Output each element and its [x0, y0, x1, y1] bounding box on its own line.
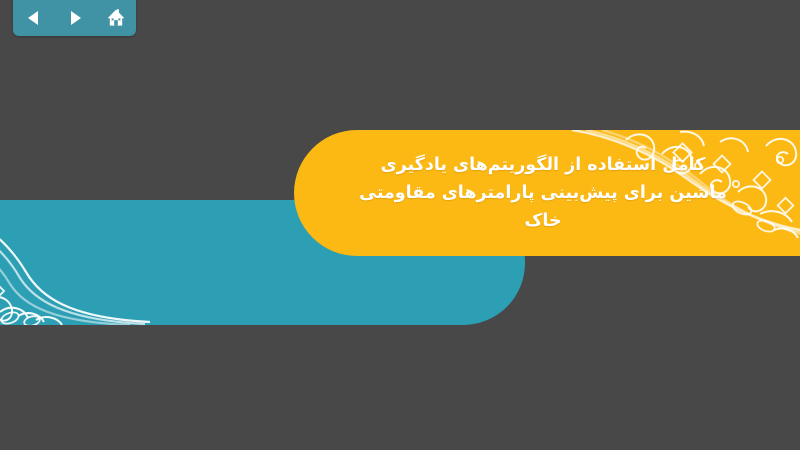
home-icon: [106, 8, 126, 28]
slide-title-line-2: ماشین برای پیش‌بینی پارامترهای مقاومتی: [359, 179, 727, 207]
floral-arabesque-ornament: [0, 200, 150, 325]
next-slide-button[interactable]: [62, 5, 88, 31]
slide-navigation-bar: [13, 0, 136, 36]
slide-title: کامل استفاده از الگوریتم‌های یادگیری ماش…: [294, 130, 800, 256]
presentation-slide: کامل استفاده از الگوریتم‌های یادگیری ماش…: [0, 0, 800, 450]
triangle-left-icon: [25, 9, 43, 27]
title-banner: کامل استفاده از الگوریتم‌های یادگیری ماش…: [294, 130, 800, 256]
home-button[interactable]: [103, 5, 129, 31]
slide-title-line-1: کامل استفاده از الگوریتم‌های یادگیری: [381, 151, 706, 179]
slide-title-line-3: خاک: [524, 207, 561, 235]
previous-slide-button[interactable]: [21, 5, 47, 31]
triangle-right-icon: [66, 9, 84, 27]
